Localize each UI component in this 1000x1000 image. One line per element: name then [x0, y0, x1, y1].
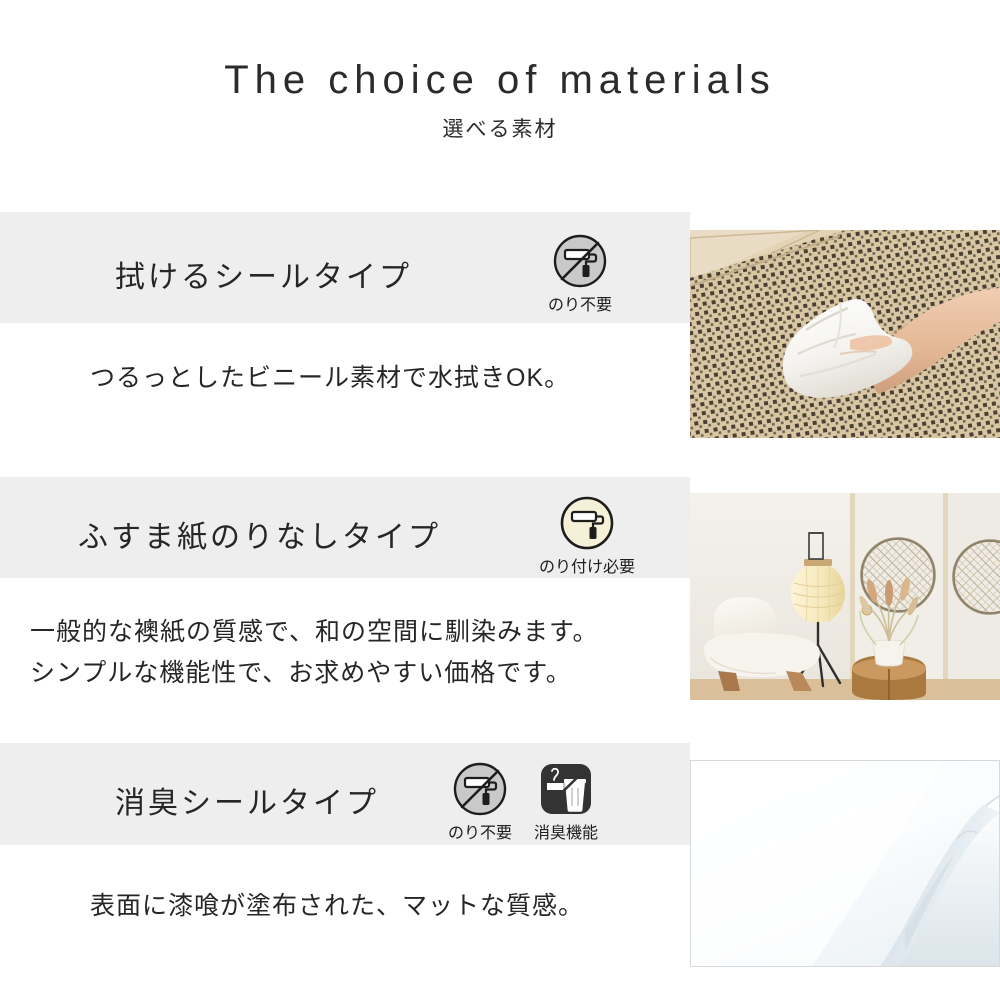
description-line: 表面に漆喰が塗布された、マットな質感。 — [90, 886, 584, 927]
curled-white-paper-photo — [690, 760, 1000, 967]
page-subtitle: 選べる素材 — [0, 113, 1000, 143]
material-choice-page: The choice of materials 選べる素材 拭けるシールタイプ … — [0, 0, 1000, 1000]
section-description: 表面に漆喰が塗布された、マットな質感。 — [90, 886, 584, 927]
section-description: つるっとしたビニール素材で水拭きOK。 — [90, 358, 570, 399]
badge-glue-required: のり付け必要 — [524, 496, 650, 577]
no-glue-roller-icon — [453, 762, 507, 816]
page-title: The choice of materials — [0, 58, 1000, 103]
description-line: つるっとしたビニール素材で水拭きOK。 — [90, 358, 570, 399]
section-title: ふすま紙のりなしタイプ — [78, 512, 441, 556]
badge-no-glue: のり不要 — [544, 234, 616, 315]
badge-group: のり不要 消臭機能 — [444, 762, 602, 843]
no-glue-roller-icon — [553, 234, 607, 288]
wiping-rattan-surface-photo — [690, 230, 1000, 438]
badge-label: のり不要 — [548, 291, 612, 315]
badge-deodorize: 消臭機能 — [530, 762, 602, 843]
deodorize-smoke-trash-icon — [539, 762, 593, 816]
badge-no-glue: のり不要 — [444, 762, 516, 843]
badge-group: のり不要 — [544, 234, 616, 315]
badge-label: 消臭機能 — [534, 819, 598, 843]
badge-group: のり付け必要 — [524, 496, 650, 577]
description-line: 一般的な襖紙の質感で、和の空間に馴染みます。 — [30, 612, 599, 653]
badge-label: のり付け必要 — [539, 553, 635, 577]
badge-label: のり不要 — [448, 819, 512, 843]
section-title: 拭けるシールタイプ — [115, 252, 412, 296]
description-line: シンプルな機能性で、お求めやすい価格です。 — [30, 653, 599, 694]
section-title: 消臭シールタイプ — [115, 778, 379, 822]
japanese-room-interior-photo — [690, 493, 1000, 700]
section-description: 一般的な襖紙の質感で、和の空間に馴染みます。 シンプルな機能性で、お求めやすい価… — [30, 612, 599, 694]
glue-roller-icon — [560, 496, 614, 550]
